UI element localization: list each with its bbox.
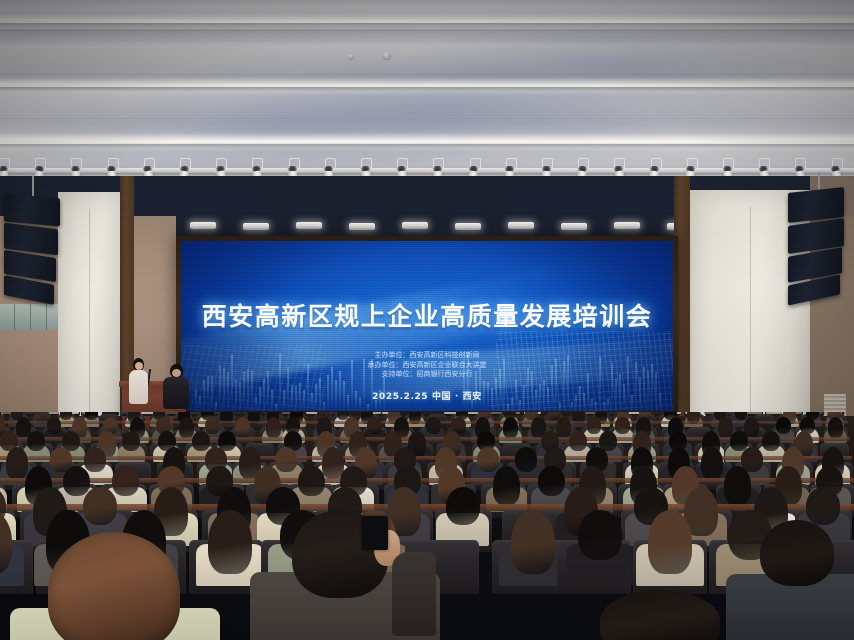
wall-wash-light <box>190 222 216 229</box>
speaker-face <box>172 369 181 377</box>
standing-presenter <box>128 358 150 416</box>
screen-title: 西安高新区规上企业高质量发展培训会 <box>181 297 673 333</box>
speaker-torso <box>163 377 189 409</box>
audience-area <box>0 412 854 640</box>
wall-wash-light <box>402 222 428 229</box>
wall-wash-light <box>455 223 481 230</box>
wall-wash-light <box>296 222 322 229</box>
foreground-hair-auburn <box>48 532 180 640</box>
wall-wash-light <box>614 222 640 229</box>
led-screen: 西安高新区规上企业高质量发展培训会 主办单位：西安高新区科技创新局 承办单位：西… <box>181 241 673 411</box>
conference-hall-photo: 西安高新区规上企业高质量发展培训会 主办单位：西安高新区科技创新局 承办单位：西… <box>0 0 854 640</box>
screen-subtitle-line: 主办单位：西安高新区科技创新局 <box>181 351 673 361</box>
left-wall-glass-band <box>0 304 58 330</box>
right-person-head <box>760 520 834 586</box>
presenter-face <box>135 362 143 370</box>
sprinkler-head <box>383 52 391 59</box>
wall-wash-light <box>561 223 587 230</box>
screen-subtitle-line: 承办单位：西安高新区企业联合大讲堂 <box>181 361 673 371</box>
screen-subtitle-line: 支持单位：招商银行西安分行 <box>181 370 673 380</box>
foreground-head-right <box>600 590 720 640</box>
screen-subtitles: 主办单位：西安高新区科技创新局 承办单位：西安高新区企业联合大讲堂 支持单位：招… <box>181 351 673 380</box>
ceiling-seam <box>0 30 854 31</box>
photographer-arm <box>392 552 436 636</box>
wall-wash-light <box>243 223 269 230</box>
screen-date-line: 2025.2.25 中国 · 西安 <box>181 389 673 402</box>
phone <box>362 516 388 550</box>
wall-wash-light <box>349 223 375 230</box>
ceiling-seam <box>0 74 854 75</box>
led-screen-frame: 西安高新区规上企业高质量发展培训会 主办单位：西安高新区科技创新局 承办单位：西… <box>176 236 678 416</box>
left-speaker-array <box>4 196 64 300</box>
presenter-torso <box>129 370 148 404</box>
sprinkler-head <box>348 54 354 59</box>
wall-wash-light <box>508 222 534 229</box>
right-speaker-array <box>788 190 848 300</box>
ceiling-seam <box>0 118 854 119</box>
foreground-audience <box>0 412 854 640</box>
seated-speaker <box>163 364 189 418</box>
